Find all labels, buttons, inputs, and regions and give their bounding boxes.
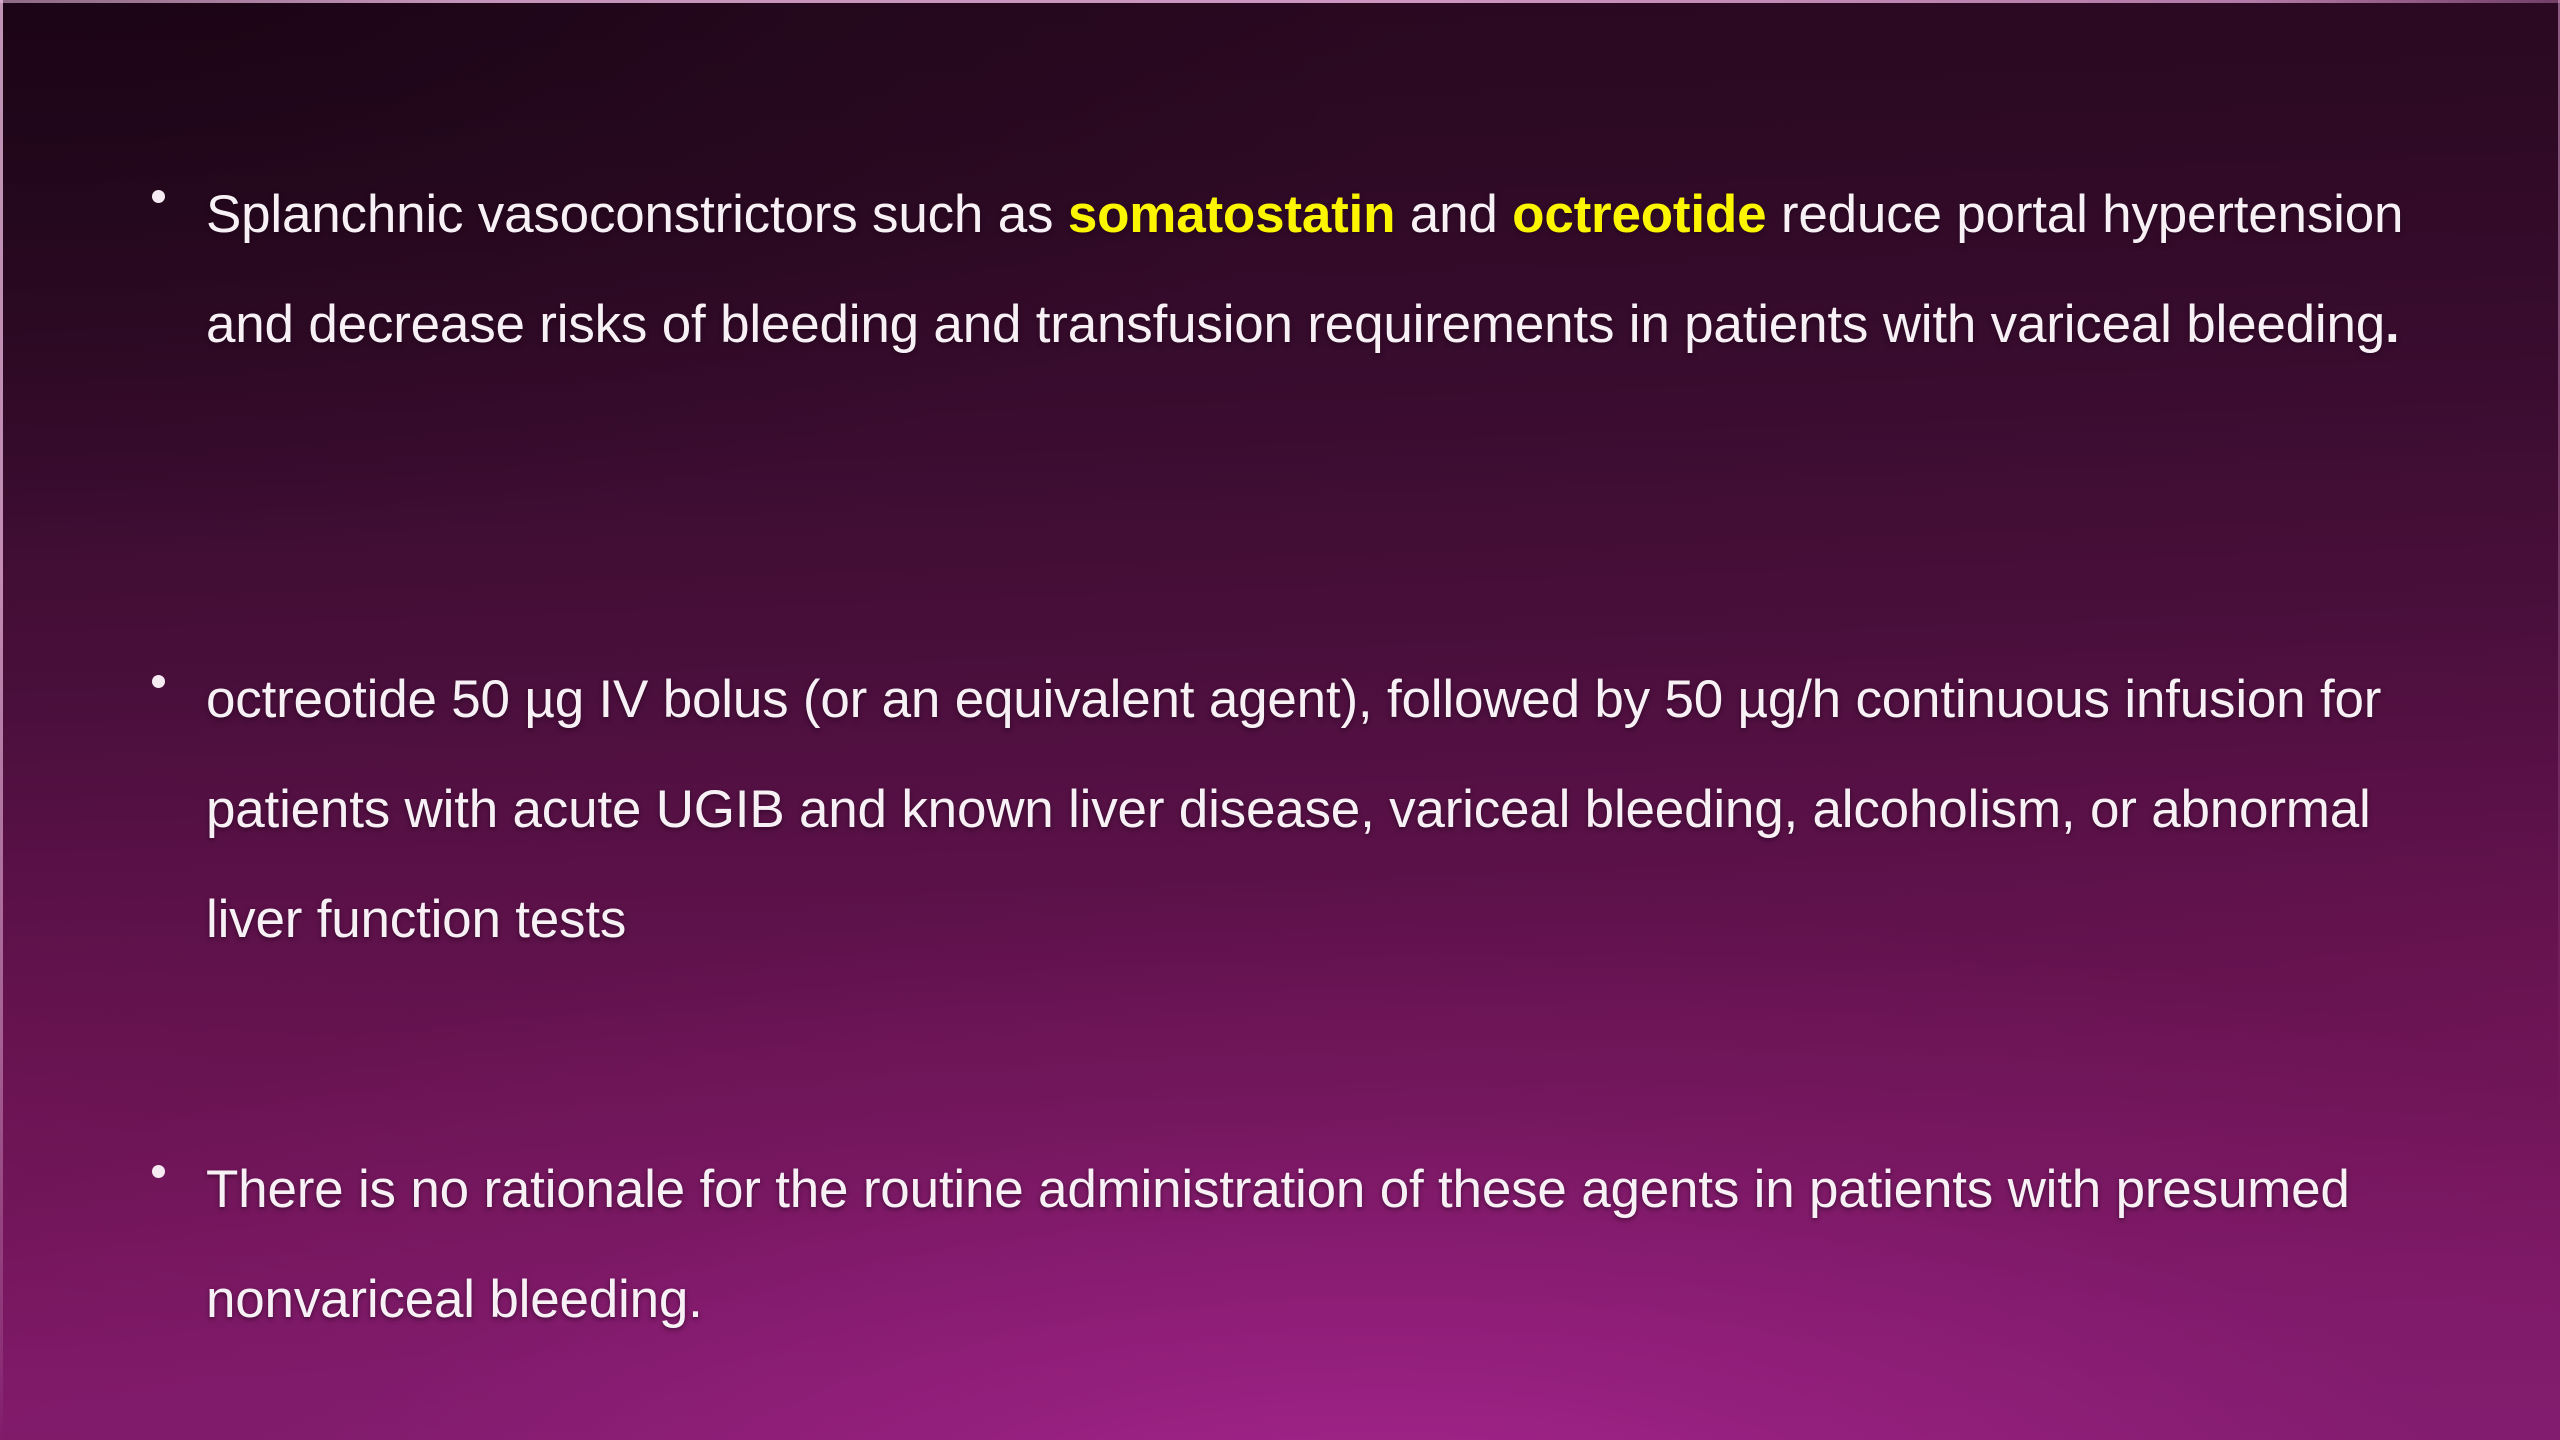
text-run: and xyxy=(1395,185,1512,244)
bullet-row: There is no rationale for the routine ad… xyxy=(152,1135,2432,1355)
presentation-slide: Splanchnic vasoconstrictors such as soma… xyxy=(0,0,2560,1440)
bullet-marker-icon xyxy=(152,160,206,203)
bullet-item: There is no rationale for the routine ad… xyxy=(152,1135,2432,1355)
highlighted-term: somatostatin xyxy=(1068,185,1395,244)
text-run: Splanchnic vasoconstrictors such as xyxy=(206,185,1068,244)
bullet-row: Splanchnic vasoconstrictors such as soma… xyxy=(152,160,2432,380)
bullet-marker-icon xyxy=(152,645,206,688)
bullet-text: octreotide 50 µg IV bolus (or an equival… xyxy=(206,645,2432,975)
highlighted-term: octreotide xyxy=(1512,185,1766,244)
bullet-item: Splanchnic vasoconstrictors such as soma… xyxy=(152,160,2432,380)
bullet-marker-icon xyxy=(152,1135,206,1178)
bold-run: . xyxy=(2385,295,2400,354)
bullet-item: octreotide 50 µg IV bolus (or an equival… xyxy=(152,645,2432,975)
text-run: octreotide 50 µg IV bolus (or an equival… xyxy=(206,670,2381,949)
bullet-row: octreotide 50 µg IV bolus (or an equival… xyxy=(152,645,2432,975)
bullet-text: There is no rationale for the routine ad… xyxy=(206,1135,2432,1355)
slide-content-body: Splanchnic vasoconstrictors such as soma… xyxy=(0,0,2560,1440)
bullet-text: Splanchnic vasoconstrictors such as soma… xyxy=(206,160,2432,380)
text-run: There is no rationale for the routine ad… xyxy=(206,1160,2350,1329)
